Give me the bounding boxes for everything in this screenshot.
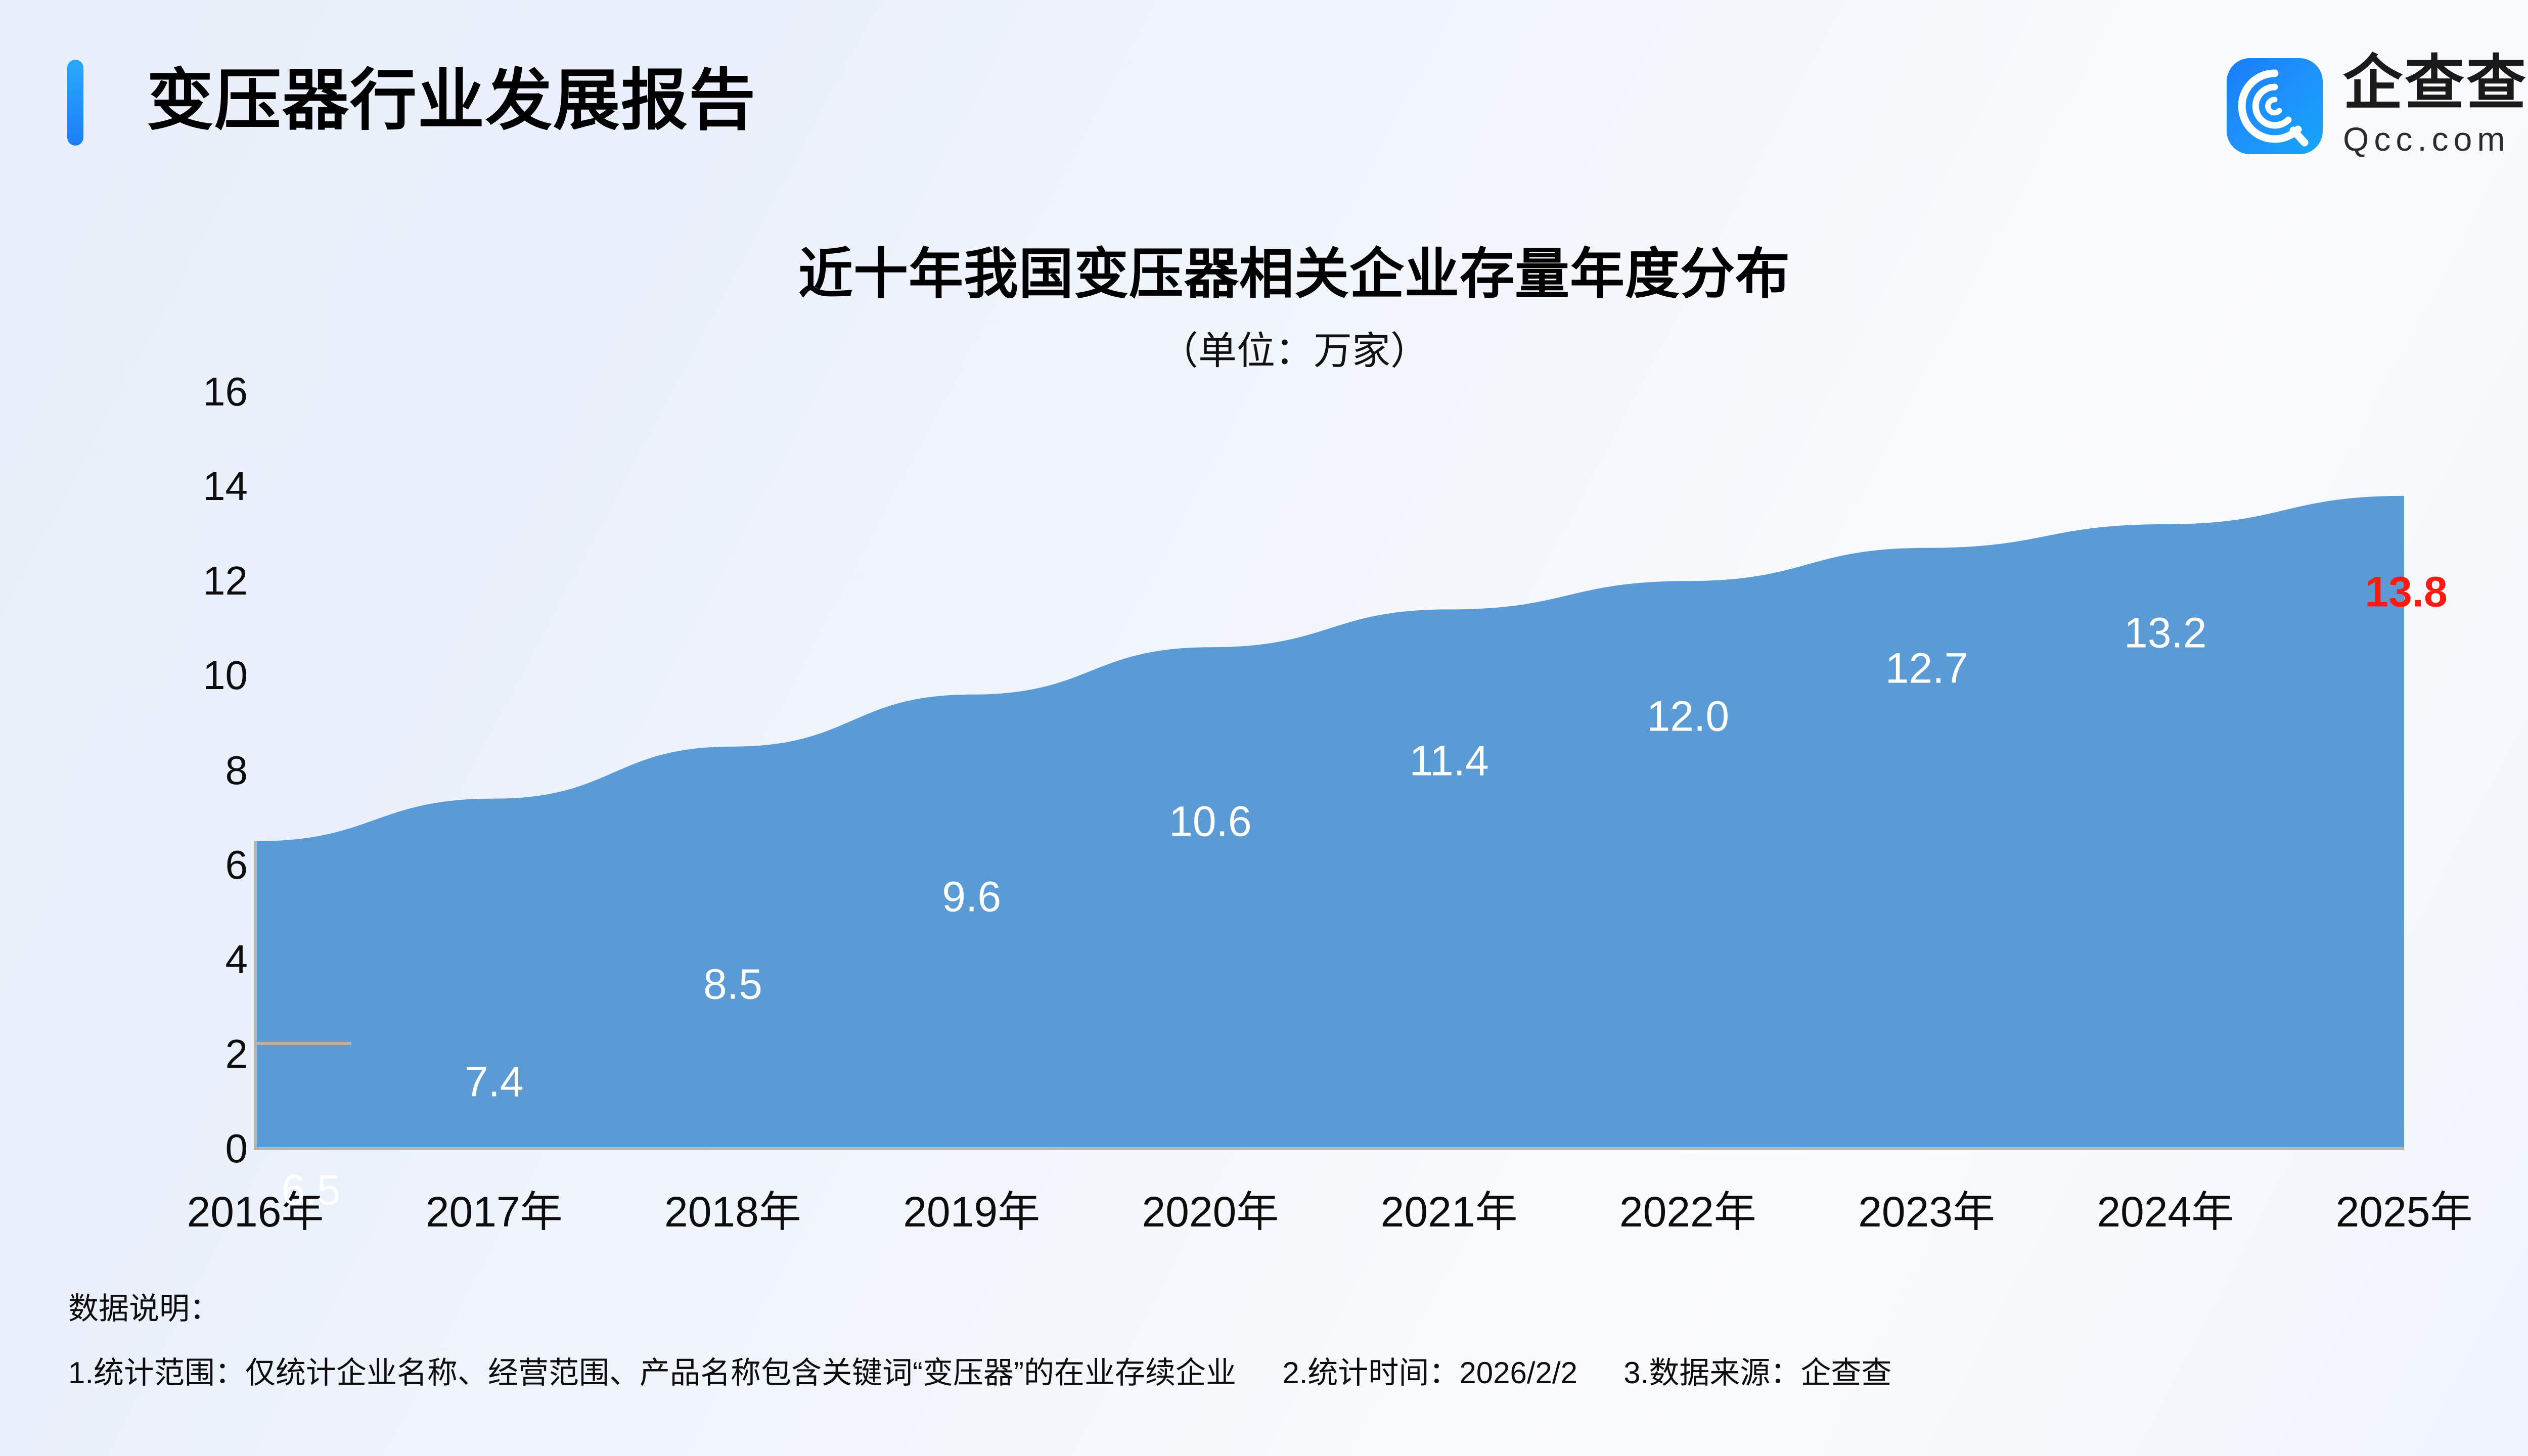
y-axis-tick-label: 12 — [203, 558, 248, 604]
x-axis-tick-label: 2023年 — [1858, 1178, 1995, 1239]
brand-logo[interactable]: 企查查 Qcc.com — [2227, 51, 2528, 162]
data-label: 12.0 — [1647, 692, 1730, 741]
y-axis-tick-label: 14 — [203, 463, 248, 510]
title-accent-bar — [67, 60, 83, 146]
x-axis-tick-label: 2020年 — [1142, 1178, 1279, 1239]
qcc-logo-icon — [2227, 58, 2323, 154]
data-label: 7.4 — [465, 1057, 524, 1106]
y-axis-tick-label: 16 — [203, 369, 248, 415]
x-axis-tick-label: 2017年 — [426, 1178, 563, 1239]
y-axis-tick-label: 2 — [225, 1031, 248, 1077]
data-label: 9.6 — [942, 872, 1001, 921]
x-axis: 2016年2017年2018年2019年2020年2021年2022年2023年… — [0, 1178, 2528, 1244]
data-label: 13.2 — [2124, 608, 2207, 657]
brand-name-cn: 企查查 — [2343, 54, 2528, 113]
y-axis-tick-label: 6 — [225, 842, 248, 888]
area-series-fill — [255, 496, 2404, 1149]
footnote-1: 1.统计范围：仅统计企业名称、经营范围、产品名称包含关键词“变压器”的在业存续企… — [68, 1356, 1236, 1390]
footnote-2: 2.统计时间：2026/2/2 — [1282, 1356, 1577, 1390]
y-axis-tick-label: 8 — [225, 747, 248, 794]
x-axis-tick-label: 2019年 — [903, 1178, 1040, 1239]
footnote-3: 3.数据来源：企查查 — [1623, 1356, 1891, 1390]
data-label: 8.5 — [703, 960, 762, 1009]
x-axis-tick-label: 2024年 — [2097, 1178, 2234, 1239]
chart-title: 近十年我国变压器相关企业存量年度分布 — [0, 230, 2528, 309]
footnotes: 数据说明： 1.统计范围：仅统计企业名称、经营范围、产品名称包含关键词“变压器”… — [68, 1284, 2528, 1392]
page-header: 变压器行业发展报告 企查查 Qcc.com — [0, 0, 2528, 202]
y-axis-tick-label: 4 — [225, 936, 248, 983]
footnote-heading: 数据说明： — [68, 1284, 2528, 1328]
data-label: 6.5 — [282, 1165, 341, 1214]
y-axis-tick-label: 0 — [225, 1125, 248, 1172]
x-axis-tick-label: 2025年 — [2336, 1178, 2473, 1239]
chart-axis-lines — [255, 841, 2404, 1149]
brand-name-en: Qcc.com — [2343, 120, 2528, 159]
x-axis-tick-label: 2018年 — [664, 1178, 801, 1239]
data-label: 12.7 — [1885, 644, 1968, 693]
y-axis-tick-label: 10 — [203, 652, 248, 699]
data-label: 10.6 — [1169, 797, 1252, 846]
chart-subtitle: （单位：万家） — [0, 320, 2528, 375]
x-axis-tick-label: 2022年 — [1619, 1178, 1756, 1239]
data-label-highlight: 13.8 — [2365, 567, 2448, 616]
x-axis-tick-label: 2021年 — [1381, 1178, 1518, 1239]
footnote-line: 1.统计范围：仅统计企业名称、经营范围、产品名称包含关键词“变压器”的在业存续企… — [68, 1348, 2528, 1392]
brand-logo-text: 企查查 Qcc.com — [2343, 54, 2528, 159]
data-label: 11.4 — [1409, 737, 1488, 786]
